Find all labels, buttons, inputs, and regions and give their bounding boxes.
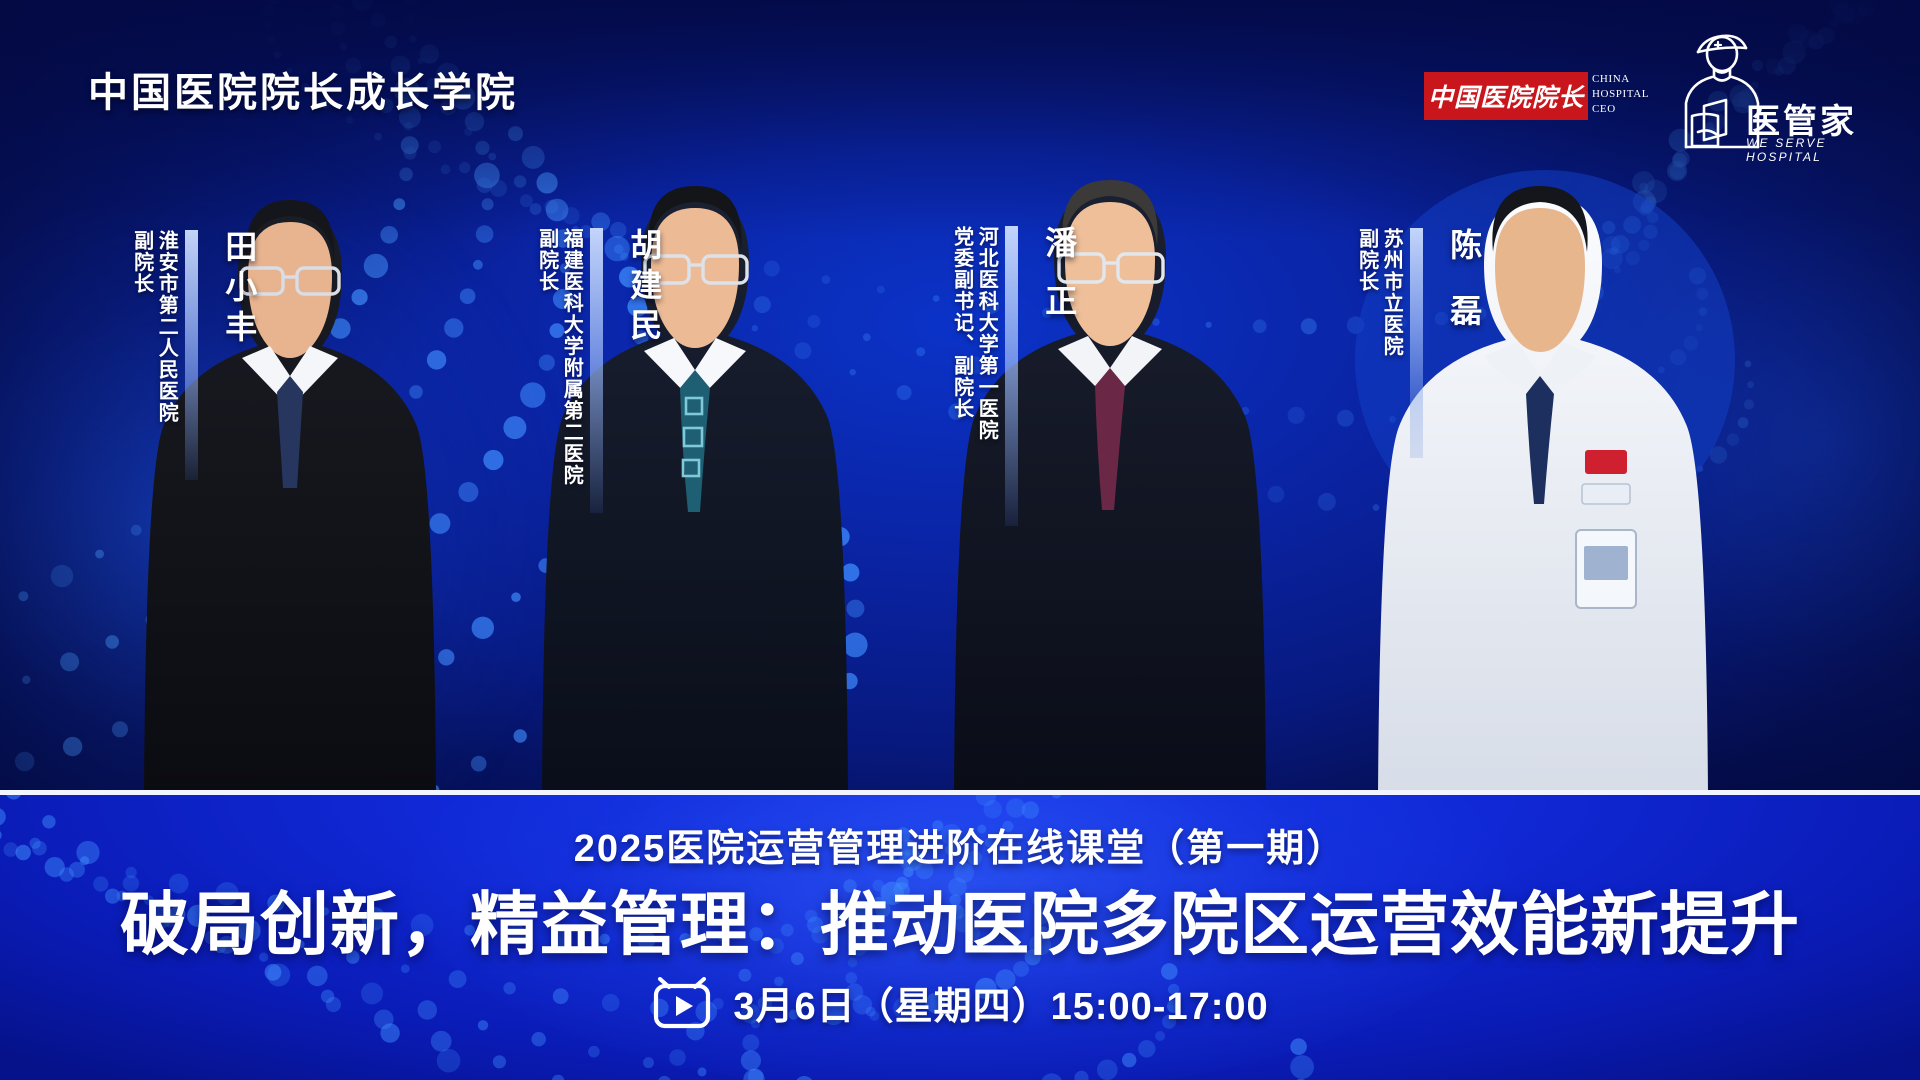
yiguanjia-logo: 医管家 WE SERVE HOSPITAL <box>1668 28 1878 158</box>
event-datetime: 3月6日（星期四）15:00-17:00 <box>733 975 1268 1030</box>
speaker-role-1: 副院长 <box>130 230 152 295</box>
speaker-role-4: 副院长 <box>1355 228 1377 293</box>
speaker-label-3: 潘正 河北医科大学第一医院 党委副书记、副院长 <box>950 226 1082 526</box>
page-title: 中国医院院长成长学院 <box>88 60 518 118</box>
china-hospital-ceo-logo-en: CHINAHOSPITALCEO <box>1592 72 1649 117</box>
speaker-divider-bar-4 <box>1410 228 1423 458</box>
event-banner: 2025医院运营管理进阶在线课堂（第一期） 破局创新，精益管理：推动医院多院区运… <box>0 795 1920 1080</box>
speaker-lineup: 田小丰 淮安市第二人民医院 副院长 <box>0 150 1920 790</box>
speaker-label-4: 陈磊 苏州市立医院 副院长 <box>1355 228 1487 458</box>
china-hospital-ceo-logo-cn: 中国医院院长 <box>1428 78 1584 114</box>
speaker-organization-2: 福建医科大学附属第二医院 <box>560 228 582 486</box>
speaker-card-3: 潘正 河北医科大学第一医院 党委副书记、副院长 <box>920 150 1300 790</box>
speaker-label-2: 胡建民 福建医科大学附属第二医院 副院长 <box>535 228 667 513</box>
speaker-name-4: 陈磊 <box>1441 228 1487 360</box>
event-subtitle: 2025医院运营管理进阶在线课堂（第一期） <box>0 817 1920 872</box>
speaker-card-4: 陈磊 苏州市立医院 副院长 <box>1330 150 1750 790</box>
event-headline: 破局创新，精益管理：推动医院多院区运营效能新提升 <box>0 868 1920 968</box>
promo-poster: 中国医院院长成长学院 中国医院院长 CHINAHOSPITALCEO 医管家 W… <box>0 0 1920 1080</box>
speaker-role-3: 党委副书记、副院长 <box>950 226 972 420</box>
speaker-organization-1: 淮安市第二人民医院 <box>155 230 177 424</box>
speaker-card-1: 田小丰 淮安市第二人民医院 副院长 <box>110 150 470 790</box>
speaker-divider-bar-3 <box>1005 226 1018 526</box>
tv-play-icon <box>651 977 713 1029</box>
speaker-name-3: 潘正 <box>1036 226 1082 342</box>
event-datetime-row: 3月6日（星期四）15:00-17:00 <box>0 975 1920 1030</box>
speaker-divider-bar-1 <box>185 230 198 480</box>
speaker-divider-bar-2 <box>590 228 603 513</box>
speaker-organization-3: 河北医科大学第一医院 <box>975 226 997 441</box>
speaker-label-1: 田小丰 淮安市第二人民医院 副院长 <box>130 230 262 480</box>
speaker-card-2: 胡建民 福建医科大学附属第二医院 副院长 <box>505 150 885 790</box>
china-hospital-ceo-logo: 中国医院院长 <box>1424 72 1588 120</box>
speaker-organization-4: 苏州市立医院 <box>1380 228 1402 357</box>
speaker-role-2: 副院长 <box>535 228 557 293</box>
speaker-name-1: 田小丰 <box>216 230 262 350</box>
speaker-name-2: 胡建民 <box>621 228 667 348</box>
